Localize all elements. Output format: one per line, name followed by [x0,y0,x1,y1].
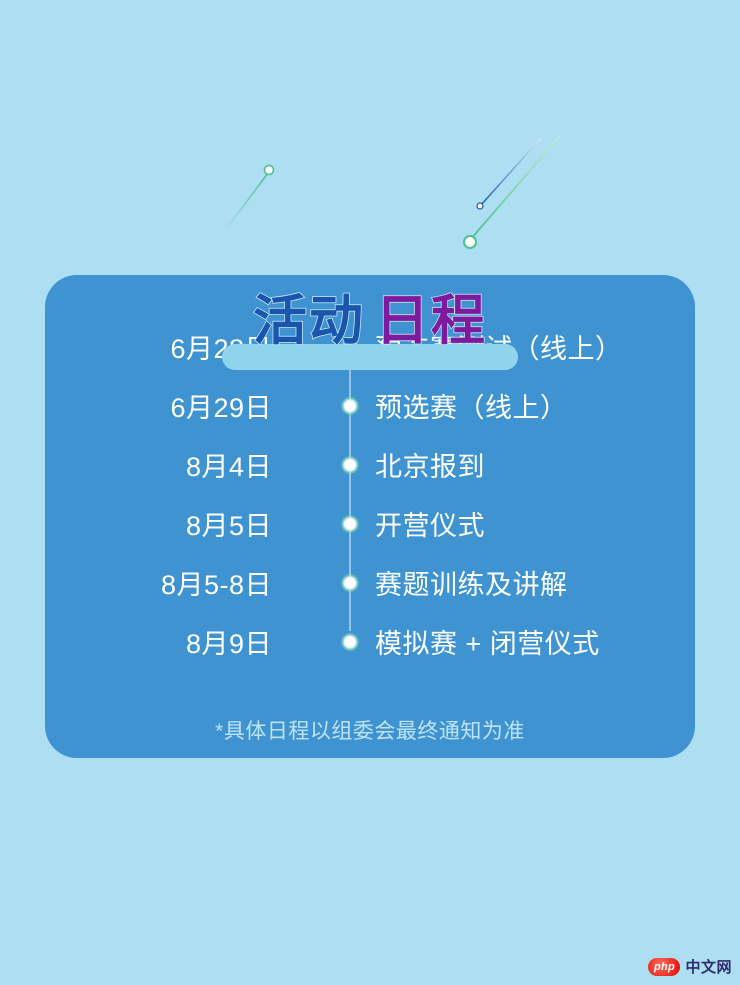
schedule-row: 8月5-8日 赛题训练及讲解 [45,553,695,612]
schedule-label: 模拟赛 + 闭营仪式 [375,622,600,661]
watermark: php 中文网 [648,956,732,977]
schedule-row: 6月29日 预选赛（线上） [45,376,695,435]
schedule-date: 8月5-8日 [45,563,272,602]
page-title-part-b: 日程 [375,291,487,351]
timeline-dot-icon [341,456,359,474]
timeline-dot-icon [341,574,359,592]
schedule-row: 8月5日 开营仪式 [45,494,695,553]
schedule-row: 8月9日 模拟赛 + 闭营仪式 [45,612,695,671]
php-logo-icon: php [648,958,680,976]
page-title: 活动日程 [0,290,740,352]
page-title-block: 活动日程 [0,130,740,260]
schedule-timeline: 6月28日 预选赛测试（线上） 6月29日 预选赛（线上） 8月4日 北京报到 … [45,317,695,671]
schedule-footnote: *具体日程以组委会最终通知为准 [45,715,695,745]
timeline-dot-icon [341,515,359,533]
schedule-label: 北京报到 [375,445,485,484]
schedule-label: 开营仪式 [375,504,485,543]
timeline-dot-icon [341,633,359,651]
schedule-date: 8月5日 [45,504,272,543]
schedule-date: 6月29日 [45,386,272,425]
schedule-row: 8月4日 北京报到 [45,435,695,494]
schedule-date: 8月9日 [45,622,272,661]
schedule-label: 预选赛（线上） [375,386,568,425]
timeline-dot-icon [341,397,359,415]
page-title-part-a: 活动 [253,291,365,351]
schedule-date: 8月4日 [45,445,272,484]
watermark-text: 中文网 [685,956,732,977]
schedule-label: 赛题训练及讲解 [375,563,568,602]
